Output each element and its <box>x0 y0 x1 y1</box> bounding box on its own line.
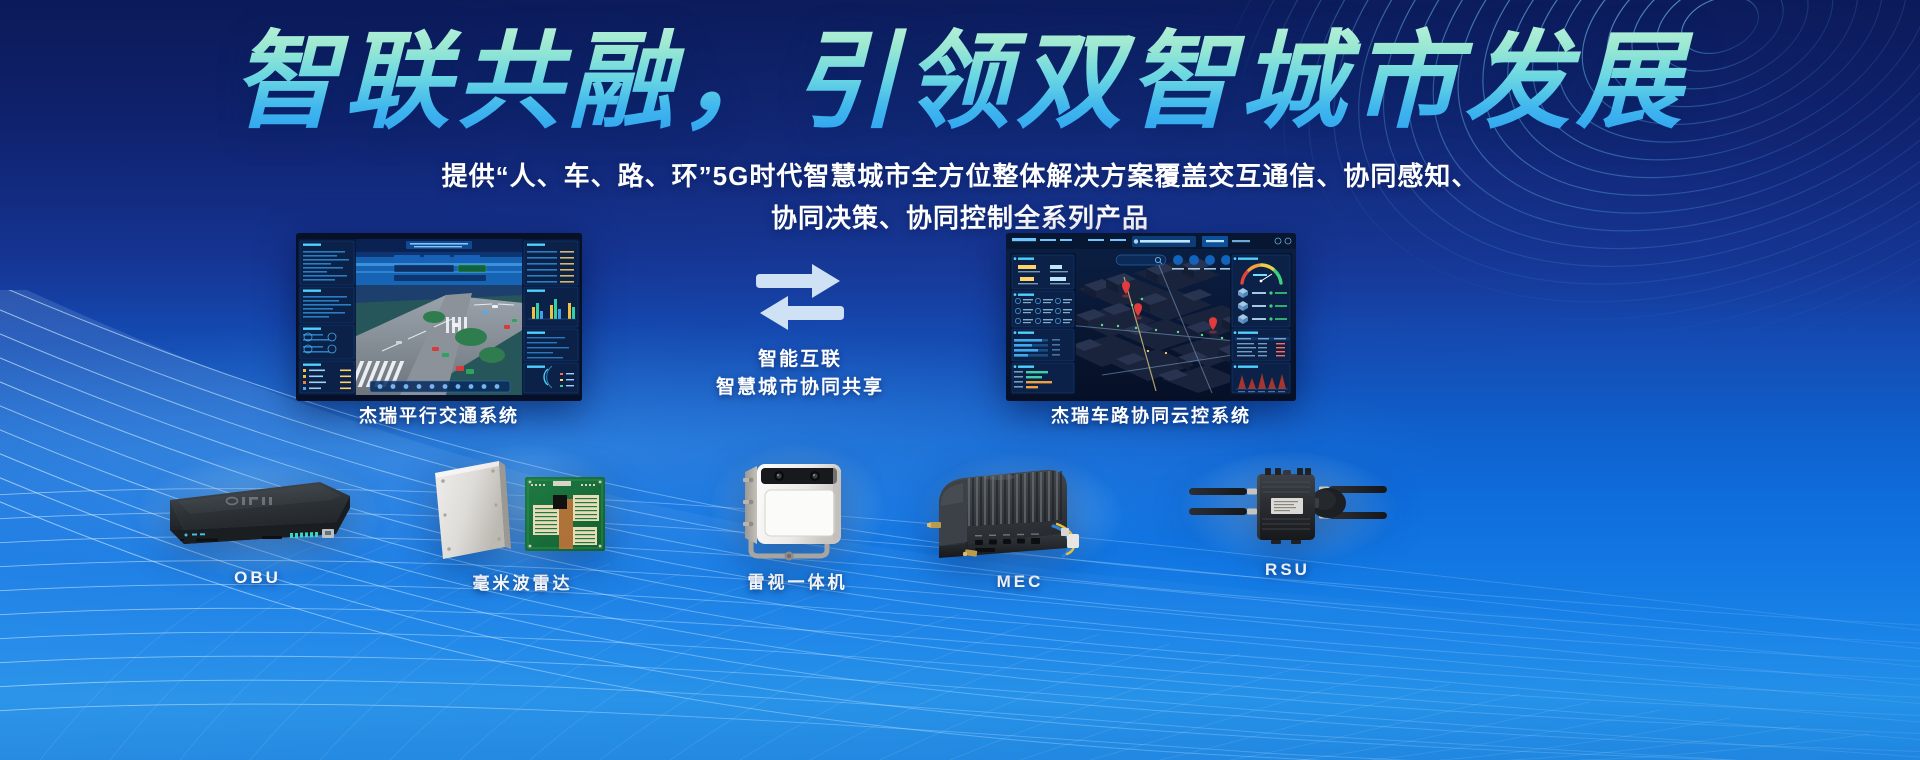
subtitle-line-2: 协同决策、协同控制全系列产品 <box>0 197 1920 239</box>
banner-subtitle: 提供“人、车、路、环”5G时代智慧城市全方位整体解决方案覆盖交互通信、协同感知、… <box>0 155 1920 239</box>
mmwave-radar-icon <box>425 455 620 565</box>
product-rsu[interactable]: RSU <box>1185 460 1390 580</box>
exchange-block: 智能互联 智慧城市协同共享 <box>680 262 920 422</box>
product-mec[interactable]: MEC <box>925 462 1115 592</box>
radar-vision-camera-art <box>715 452 880 564</box>
exchange-line-1: 智能互联 <box>680 346 920 374</box>
obu-device-icon <box>150 468 365 564</box>
product-radar-vision-camera[interactable]: 雷视一体机 <box>715 452 880 593</box>
screenshot-cloud-control-system[interactable] <box>1006 233 1296 401</box>
mec-server-icon <box>925 462 1115 568</box>
exchange-arrows-icon <box>752 262 848 334</box>
mmwave-radar-art <box>425 455 620 565</box>
subtitle-line-1: 提供“人、车、路、环”5G时代智慧城市全方位整体解决方案覆盖交互通信、协同感知、 <box>0 155 1920 197</box>
rsu-antenna-art <box>1185 460 1390 556</box>
caption-parallel-traffic-system: 杰瑞平行交通系统 <box>296 402 582 428</box>
mec-server-art <box>925 462 1115 568</box>
product-label-obu: OBU <box>150 568 365 588</box>
obu-device-art <box>150 468 365 564</box>
exchange-line-2: 智慧城市协同共享 <box>680 374 920 402</box>
banner-stage: 智联共融，引领双智城市发展 提供“人、车、路、环”5G时代智慧城市全方位整体解决… <box>0 0 1920 760</box>
exchange-text: 智能互联 智慧城市协同共享 <box>680 346 920 402</box>
rsu-antenna-icon <box>1185 460 1390 556</box>
product-label-rsu: RSU <box>1185 560 1390 580</box>
product-mmwave-radar[interactable]: 毫米波雷达 <box>425 455 620 594</box>
product-label-camera: 雷视一体机 <box>715 568 880 593</box>
caption-cloud-control-system: 杰瑞车路协同云控系统 <box>1006 402 1296 428</box>
page-title: 智联共融，引领双智城市发展 <box>0 24 1920 141</box>
radar-vision-camera-icon <box>715 452 880 564</box>
product-label-radar: 毫米波雷达 <box>425 569 620 594</box>
product-label-mec: MEC <box>925 572 1115 592</box>
screenshot-parallel-traffic-system[interactable] <box>296 233 582 401</box>
product-obu[interactable]: OBU <box>150 468 365 588</box>
